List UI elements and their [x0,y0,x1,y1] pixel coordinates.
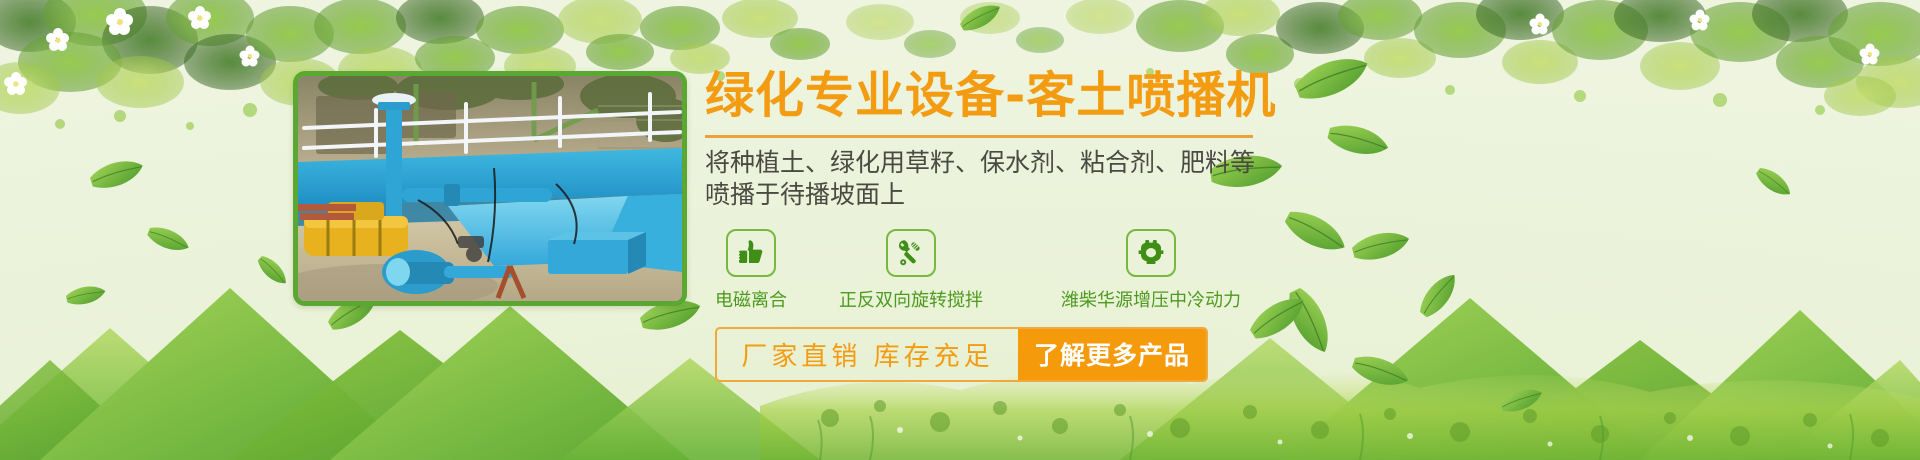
promo-banner: 绿化专业设备-客土喷播机 将种植土、绿化用草籽、保水剂、粘合剂、肥料等 喷播于待… [0,0,1920,460]
banner-content: 绿化专业设备-客土喷播机 将种植土、绿化用草籽、保水剂、粘合剂、肥料等 喷播于待… [705,70,1605,382]
feature-label: 潍柴华源增压中冷动力 [1061,286,1241,312]
feature-icon-box [886,229,936,277]
cta-row: 厂家直销 库存充足 了解更多产品 [715,327,1208,382]
feature-item-weichai-engine: 潍柴华源增压中冷动力 [1061,229,1241,312]
feature-item-bidirectional-mixing: 正反双向旋转搅拌 [839,229,983,312]
feature-label: 正反双向旋转搅拌 [839,286,983,312]
cta-slogan: 厂家直销 库存充足 [717,329,1018,380]
feature-list: 电磁离合 [705,229,1605,312]
learn-more-button[interactable]: 了解更多产品 [1018,329,1206,380]
subtitle-line-2: 喷播于待播坡面上 [705,179,1605,211]
feature-item-electromagnetic-clutch: 电磁离合 [715,229,787,312]
feature-icon-box [726,229,776,277]
engine-icon [1136,239,1166,267]
wrench-screwdriver-icon [896,238,926,268]
thumbs-up-icon [736,239,766,267]
feature-label: 电磁离合 [715,286,787,312]
feature-icon-box [1126,229,1176,277]
title-divider [705,135,1253,138]
page-title: 绿化专业设备-客土喷播机 [705,70,1605,123]
product-photo [293,71,687,306]
subtitle-line-1: 将种植土、绿化用草籽、保水剂、粘合剂、肥料等 [705,147,1605,179]
